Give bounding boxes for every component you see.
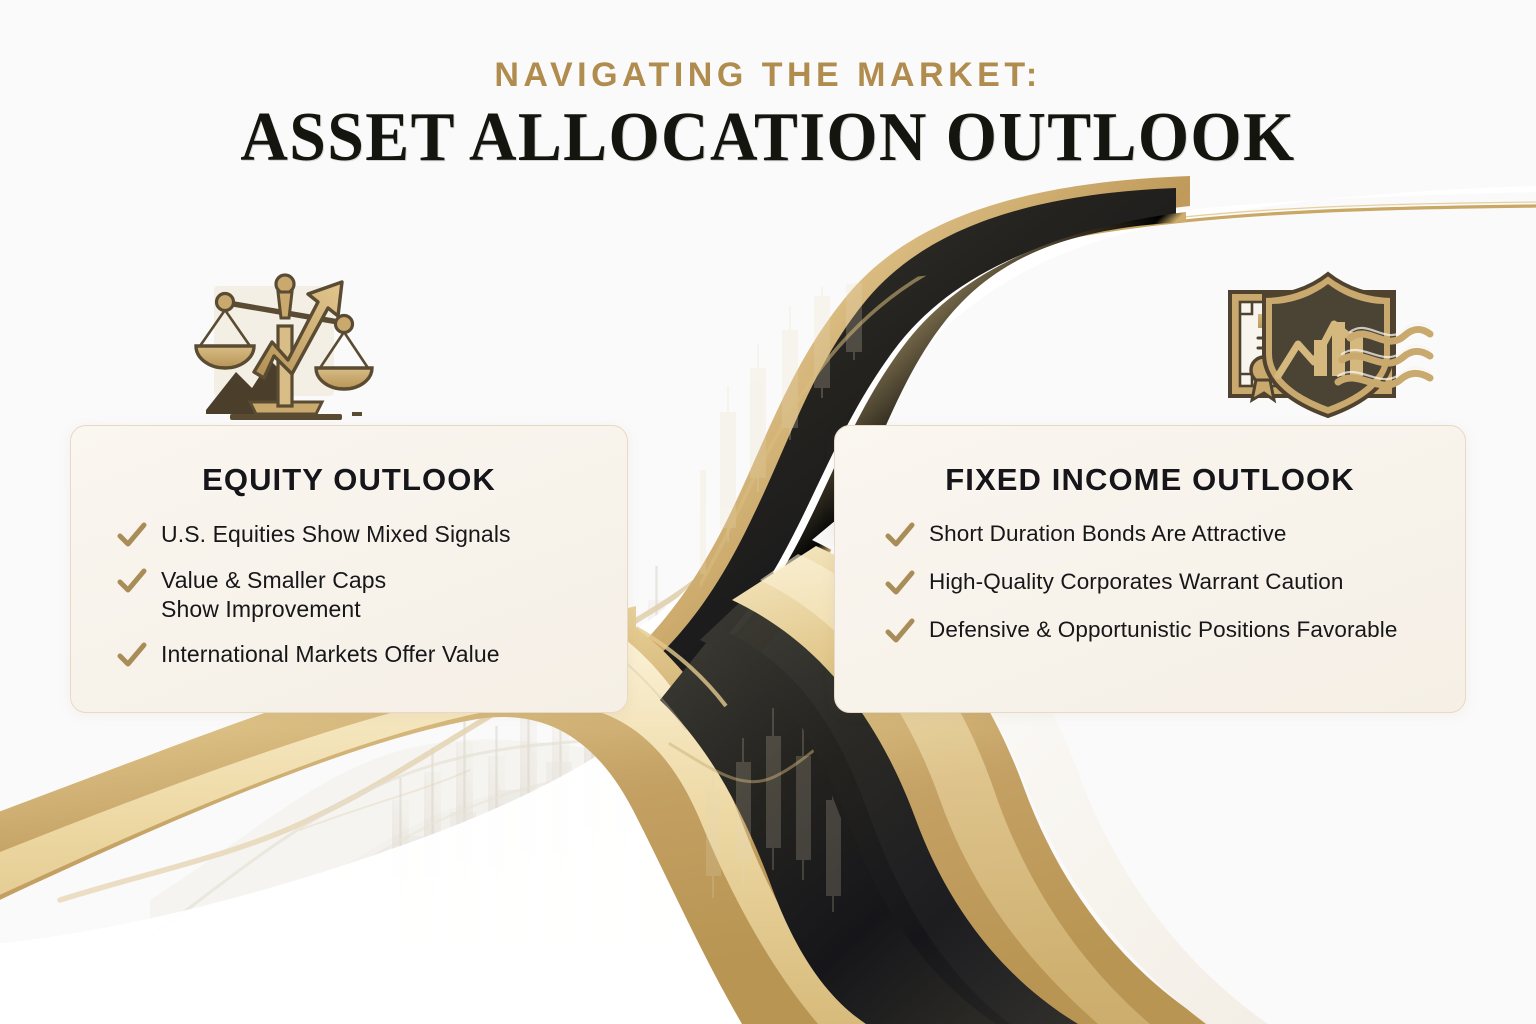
list-item: Short Duration Bonds Are Attractive bbox=[885, 520, 1465, 550]
balance-scale-growth-arrow-icon bbox=[192, 262, 378, 430]
list-item: Value & Smaller Caps Show Improvement bbox=[117, 566, 627, 624]
list-item-label: Defensive & Opportunistic Positions Favo… bbox=[929, 616, 1397, 644]
page-title: Asset Allocation Outlook bbox=[46, 101, 1490, 175]
list-item: High-Quality Corporates Warrant Caution bbox=[885, 568, 1465, 598]
check-icon bbox=[885, 522, 915, 550]
equity-card-title: Equity Outlook bbox=[71, 462, 627, 498]
fixed-income-card-title: Fixed Income Outlook bbox=[835, 462, 1465, 498]
equity-bullet-list: U.S. Equities Show Mixed Signals Value &… bbox=[71, 498, 627, 670]
check-icon bbox=[885, 618, 915, 646]
fixed-income-bullet-list: Short Duration Bonds Are Attractive High… bbox=[835, 498, 1465, 646]
list-item: U.S. Equities Show Mixed Signals bbox=[117, 520, 627, 550]
list-item: Defensive & Opportunistic Positions Favo… bbox=[885, 616, 1465, 646]
list-item-label: High-Quality Corporates Warrant Caution bbox=[929, 568, 1343, 596]
list-item-label: U.S. Equities Show Mixed Signals bbox=[161, 520, 511, 549]
check-icon bbox=[117, 522, 147, 550]
eyebrow-title: Navigating the Market: bbox=[0, 56, 1536, 95]
infographic-canvas: Navigating the Market: Asset Allocation … bbox=[0, 0, 1536, 1024]
header: Navigating the Market: Asset Allocation … bbox=[0, 56, 1536, 175]
list-item-label: Short Duration Bonds Are Attractive bbox=[929, 520, 1286, 548]
check-icon bbox=[117, 568, 147, 596]
list-item-label: International Markets Offer Value bbox=[161, 640, 500, 669]
check-icon bbox=[117, 642, 147, 670]
fixed-income-outlook-card[interactable]: Fixed Income Outlook Short Duration Bond… bbox=[834, 425, 1466, 713]
equity-outlook-card[interactable]: Equity Outlook U.S. Equities Show Mixed … bbox=[70, 425, 628, 713]
list-item: International Markets Offer Value bbox=[117, 640, 627, 670]
bond-certificate-shield-icon bbox=[1222, 266, 1434, 420]
list-item-label: Value & Smaller Caps Show Improvement bbox=[161, 566, 386, 624]
check-icon bbox=[885, 570, 915, 598]
